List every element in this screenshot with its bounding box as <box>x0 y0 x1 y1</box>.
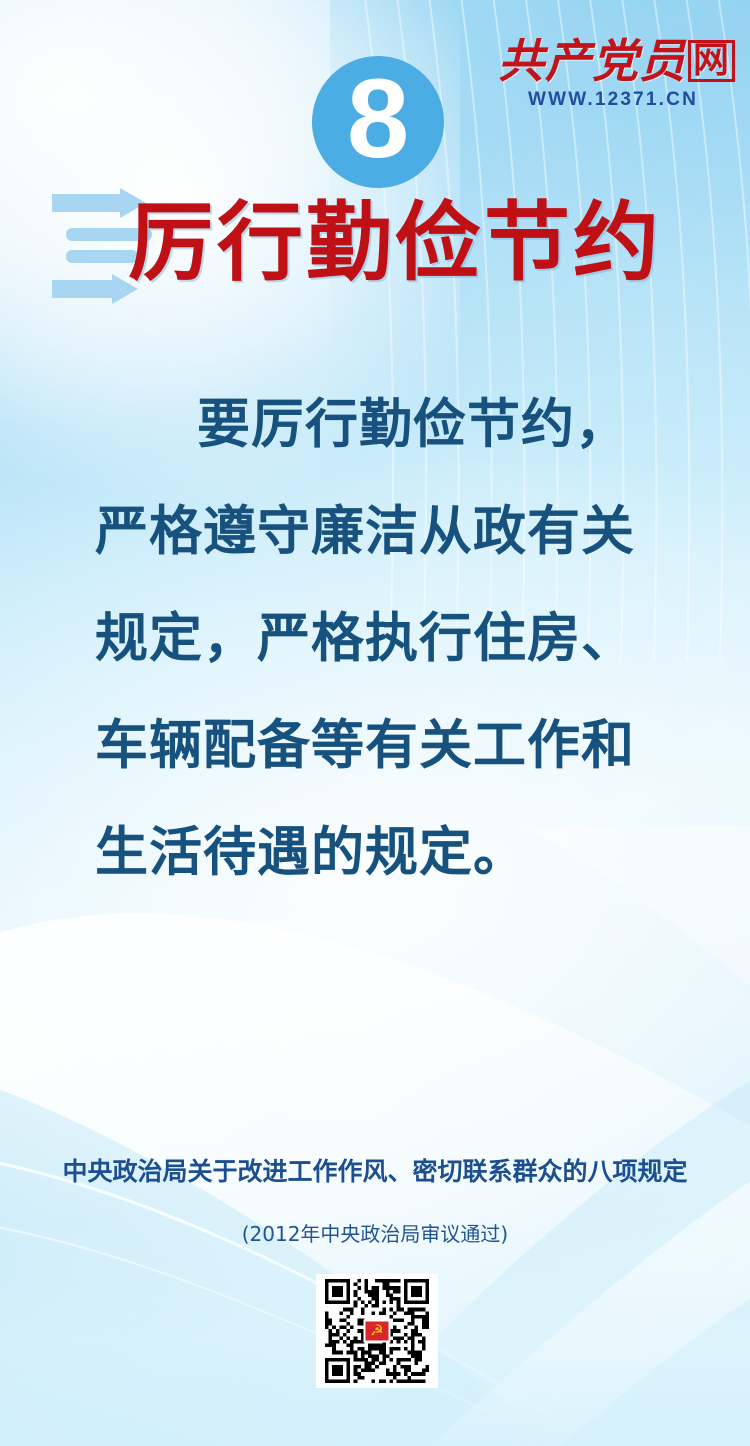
body-line: 生活待遇的规定。 <box>95 826 665 879</box>
logo-url: WWW.12371.CN <box>498 90 728 109</box>
party-emblem-icon: ☭ <box>364 1320 391 1343</box>
item-number-value: 8 <box>347 63 409 175</box>
qr-code[interactable]: ☭ <box>316 1274 438 1388</box>
logo-brand-boxed-character: 网 <box>688 40 735 82</box>
body-line: 严格遵守廉洁从政有关 <box>95 505 665 558</box>
item-number-badge: 8 <box>312 56 444 188</box>
site-logo[interactable]: 共产党员网 WWW.12371.CN <box>498 38 728 109</box>
logo-brand-text: 共产党员网 <box>498 38 728 84</box>
poster-canvas: 共产党员网 WWW.12371.CN 8 厉行勤俭节约 要厉行勤俭节约， 严格遵… <box>0 0 750 1446</box>
footer-regulation-title: 中央政治局关于改进工作作风、密切联系群众的八项规定 <box>0 1152 750 1188</box>
page-title: 厉行勤俭节约 <box>128 198 662 288</box>
body-line: 规定，严格执行住房、 <box>95 612 665 665</box>
body-text-block: 要厉行勤俭节约， 严格遵守廉洁从政有关 规定，严格执行住房、 车辆配备等有关工作… <box>95 398 665 879</box>
logo-brand-characters: 共产党员 <box>498 34 686 88</box>
footer-regulation-subtitle: (2012年中央政治局审议通过) <box>0 1218 750 1247</box>
footer-block: 中央政治局关于改进工作作风、密切联系群众的八项规定 (2012年中央政治局审议通… <box>0 1152 750 1247</box>
body-line: 车辆配备等有关工作和 <box>95 719 665 772</box>
body-line: 要厉行勤俭节约， <box>95 398 665 451</box>
